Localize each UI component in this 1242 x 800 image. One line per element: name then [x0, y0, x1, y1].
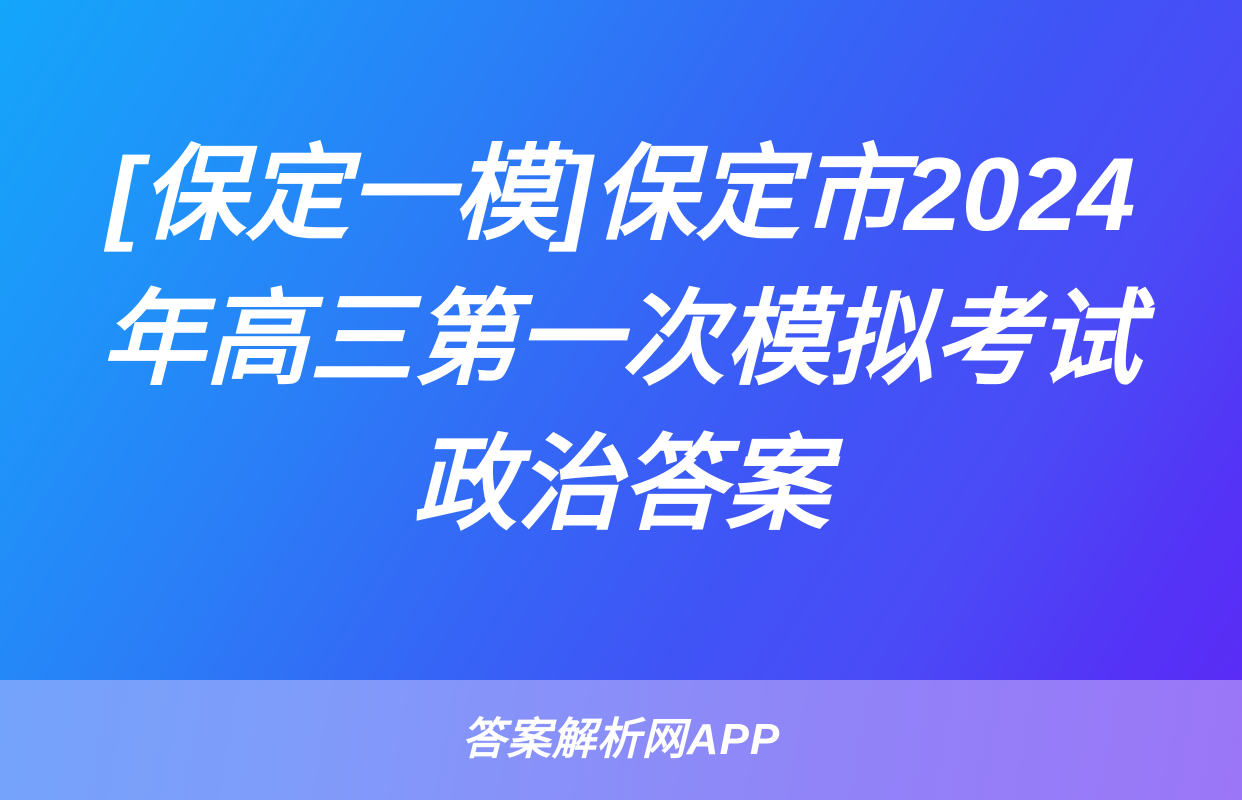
- watermark-text: 答案解析网APP: [462, 718, 780, 762]
- page-title: [保定一模]保定市2024年高三第一次模拟考试政治答案: [95, 123, 1147, 558]
- exam-answer-banner: [保定一模]保定市2024年高三第一次模拟考试政治答案 答案解析网APP: [0, 0, 1242, 800]
- hero-gradient-panel: [保定一模]保定市2024年高三第一次模拟考试政治答案: [0, 0, 1242, 680]
- watermark-band: 答案解析网APP: [0, 680, 1242, 800]
- hero-title-container: [保定一模]保定市2024年高三第一次模拟考试政治答案: [91, 123, 1151, 558]
